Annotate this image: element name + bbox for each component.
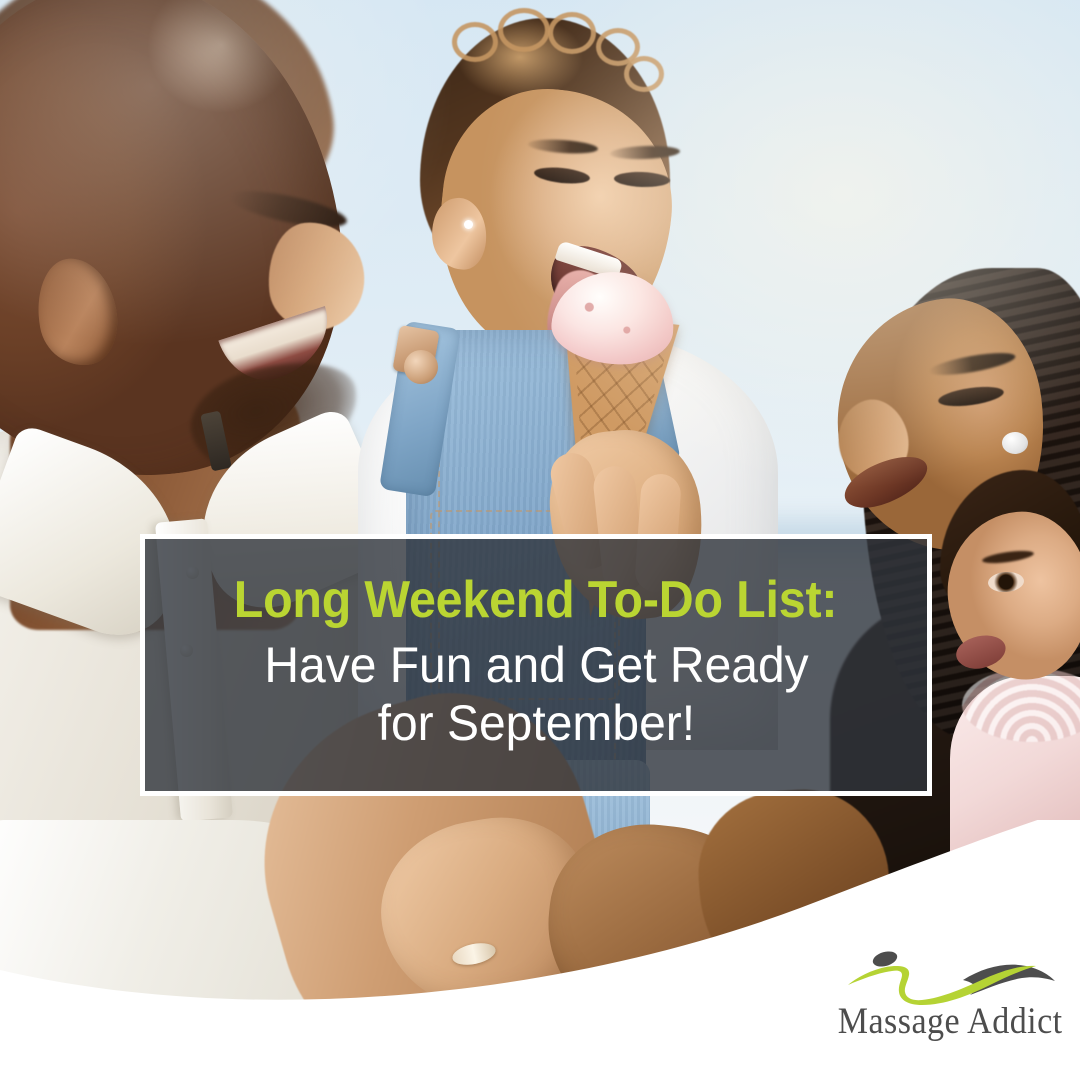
overalls-clip-button (404, 350, 438, 384)
girl-hair-curl (624, 56, 664, 92)
page-title: Long Weekend To-Do List: (234, 573, 838, 627)
subtitle-line-1: Have Fun and Get Ready (264, 636, 808, 695)
headline-overlay-card: Long Weekend To-Do List: Have Fun and Ge… (140, 534, 932, 796)
girl-hair-curl (498, 8, 550, 52)
massage-addict-swoosh-icon (846, 948, 1058, 1006)
subtitle-line-2: for September! (377, 694, 694, 753)
girl-hair-curl (548, 12, 596, 54)
girl-hair-curl (452, 22, 498, 62)
woman-hair-bead (1002, 432, 1028, 454)
brand-logo[interactable]: Massage Addict (828, 948, 1072, 1060)
brand-name: Massage Addict (838, 1000, 1062, 1043)
girl-earring (464, 220, 473, 229)
social-post-canvas: Long Weekend To-Do List: Have Fun and Ge… (0, 0, 1080, 1080)
